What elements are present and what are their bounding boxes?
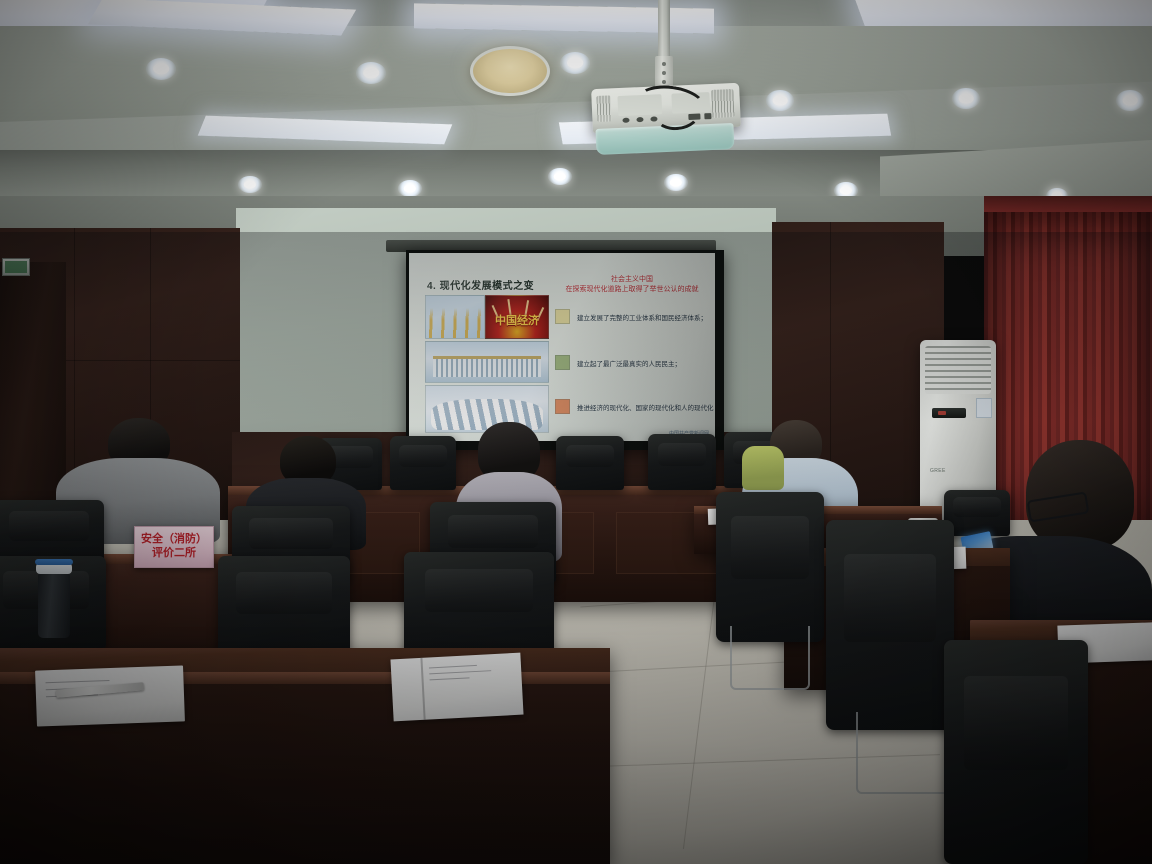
slide-thumb-fireworks [425,295,485,339]
ceiling-downlight-1 [146,58,176,80]
ceiling-downlight-9 [548,168,572,185]
slide-bullet-3: 推进经济的现代化、国家的现代化和人的现代化 [555,399,714,414]
chair-front-4[interactable] [648,434,716,490]
nameplate-line-1: 安全（消防） [141,533,207,547]
conference-room-photo: 4. 现代化发展模式之变 社会主义中国 在探索现代化道路上取得了举世公认的成就 … [0,0,1152,864]
exit-sign [2,258,30,276]
open-booklet-center[interactable] [390,653,523,722]
slide-title: 4. 现代化发展模式之变 [427,277,534,292]
projector-vent-left [596,95,611,122]
slide-bullet-text-2: 建立起了最广泛最真实的人民民主； [577,358,681,368]
air-conditioner-display [932,408,966,418]
booklet-spine [420,658,425,720]
presentation-slide: 4. 现代化发展模式之变 社会主义中国 在探索现代化道路上取得了举世公认的成就 … [409,253,715,441]
department-nameplate: 安全（消防） 评价二所 [134,526,214,568]
air-conditioner-grille [925,346,991,394]
slide-thumb-china-economy: 中国经济 [485,295,549,339]
air-conditioner-sticker [976,398,992,418]
projector-port-vga [704,113,711,119]
ceiling-downlight-4 [766,90,794,111]
slide-bullet-chip-1 [555,309,570,324]
slide-bullet-chip-3 [555,399,570,414]
slide-headline-line2: 在探索现代化道路上取得了举世公认的成就 [557,285,707,295]
chair-right-aisle-2[interactable] [826,520,954,730]
projector-mount-pole [658,0,670,62]
slide-thumb-caption: 中国经济 [495,312,539,328]
ceiling-downlight-5 [952,88,980,109]
person-yellow-top-body [742,446,784,490]
nameplate-line-2: 评价二所 [152,547,196,561]
chair-right-aisle-1-legs [730,626,810,690]
ceiling-downlight-6 [1116,90,1144,111]
chair-right-aisle-2-legs [856,712,952,794]
bottle-handle-ring [35,559,73,565]
notebook-line-1 [45,680,109,683]
slide-thumb-great-hall [425,341,549,383]
ceiling-downlight-2 [356,62,386,84]
projector-vent-right [711,89,734,118]
water-bottle[interactable] [38,572,70,638]
person-yellow-top [742,440,786,490]
slide-headline-line1: 社会主义中国 [557,275,707,285]
slide-bullet-2: 建立起了最广泛最真实的人民民主； [555,355,681,370]
chair-front-3[interactable] [556,436,624,490]
ceiling-downlight-3 [560,52,590,74]
booklet-line-3 [430,677,470,680]
slide-bullet-1: 建立发展了完整的工业体系和国民经济体系； [555,309,707,324]
slide-headline: 社会主义中国 在探索现代化道路上取得了举世公认的成就 [557,275,707,295]
ceiling-downlight-8 [398,180,422,197]
projection-screen[interactable]: 4. 现代化发展模式之变 社会主义中国 在探索现代化道路上取得了举世公认的成就 … [409,253,715,441]
booklet-line-2 [429,670,491,674]
chair-near-center-left[interactable] [218,556,350,656]
air-conditioner-led [938,411,946,415]
projector-port-2 [636,117,643,122]
booklet-line-1 [429,665,477,669]
chair-right-aisle-1[interactable] [716,492,824,642]
ceiling-downlight-7 [238,176,262,193]
ceiling-downlight-10 [664,174,688,191]
chair-right-foreground[interactable] [944,640,1088,864]
chair-front-2[interactable] [390,436,456,490]
ceiling-dome-light [470,46,550,96]
slide-bullet-text-3: 推进经济的现代化、国家的现代化和人的现代化 [577,402,714,412]
chair-near-center[interactable] [404,552,554,656]
projector-port-1 [622,118,629,123]
projection-screen-frame: 4. 现代化发展模式之变 社会主义中国 在探索现代化道路上取得了举世公认的成就 … [406,250,724,450]
slide-bullet-chip-2 [555,355,570,370]
slide-bullet-text-1: 建立发展了完整的工业体系和国民经济体系； [577,312,707,322]
